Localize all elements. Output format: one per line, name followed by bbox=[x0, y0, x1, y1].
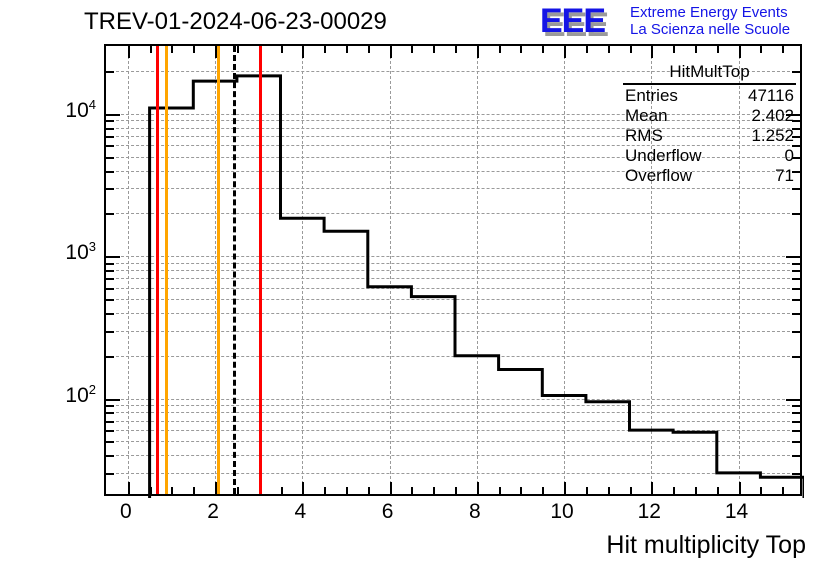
stats-row-key: RMS bbox=[625, 126, 663, 145]
eee-logo-text: Extreme Energy Events La Scienza nelle S… bbox=[630, 4, 790, 38]
stats-row-value: 47116 bbox=[748, 86, 794, 105]
x-axis-title: Hit multiplicity Top bbox=[606, 531, 806, 560]
stats-row-value: 0 bbox=[785, 146, 794, 165]
y-tick-label: 102 bbox=[0, 382, 96, 408]
x-tick-label: 2 bbox=[183, 500, 243, 524]
stats-row: Underflow0 bbox=[619, 145, 800, 165]
y-tick-label: 103 bbox=[0, 239, 96, 265]
stats-box-title: HitMultTop bbox=[623, 60, 796, 85]
root-canvas: TREV-01-2024-06-23-00029 EEE EEE Extreme… bbox=[0, 0, 836, 572]
orange-line-low bbox=[165, 46, 168, 494]
mean-line bbox=[233, 46, 236, 494]
stats-row-value: 2.402 bbox=[751, 106, 794, 125]
stats-row: Entries47116 bbox=[619, 85, 800, 105]
stats-row: Overflow71 bbox=[619, 165, 800, 185]
y-tick-label: 104 bbox=[0, 97, 96, 123]
x-tick-label: 8 bbox=[445, 500, 505, 524]
orange-line-high bbox=[217, 46, 220, 494]
stats-row-value: 71 bbox=[775, 166, 794, 185]
stats-row-key: Entries bbox=[625, 86, 678, 105]
x-tick-label: 14 bbox=[707, 500, 767, 524]
eee-logo-line1: Extreme Energy Events bbox=[630, 4, 790, 21]
x-tick-label: 4 bbox=[270, 500, 330, 524]
stats-box-rows: Entries47116Mean2.402RMS1.252Underflow0O… bbox=[619, 85, 800, 185]
stats-box: HitMultTop Entries47116Mean2.402RMS1.252… bbox=[619, 60, 800, 200]
stats-row: Mean2.402 bbox=[619, 105, 800, 125]
red-line-low bbox=[156, 46, 159, 494]
x-tick-label: 10 bbox=[532, 500, 592, 524]
stats-row: RMS1.252 bbox=[619, 125, 800, 145]
stats-row-key: Overflow bbox=[625, 166, 692, 185]
eee-logo: EEE EEE Extreme Energy Events La Scienza… bbox=[540, 2, 836, 42]
stats-row-key: Underflow bbox=[625, 146, 702, 165]
red-line-high bbox=[259, 46, 262, 494]
eee-logo-mark-front: EEE bbox=[540, 4, 605, 38]
stats-row-value: 1.252 bbox=[751, 126, 794, 145]
stats-row-key: Mean bbox=[625, 106, 668, 125]
eee-logo-line2: La Scienza nelle Scuole bbox=[630, 21, 790, 38]
x-tick-label: 12 bbox=[619, 500, 679, 524]
x-tick-label: 0 bbox=[96, 500, 156, 524]
x-tick-label: 6 bbox=[358, 500, 418, 524]
page-title: TREV-01-2024-06-23-00029 bbox=[84, 8, 387, 36]
